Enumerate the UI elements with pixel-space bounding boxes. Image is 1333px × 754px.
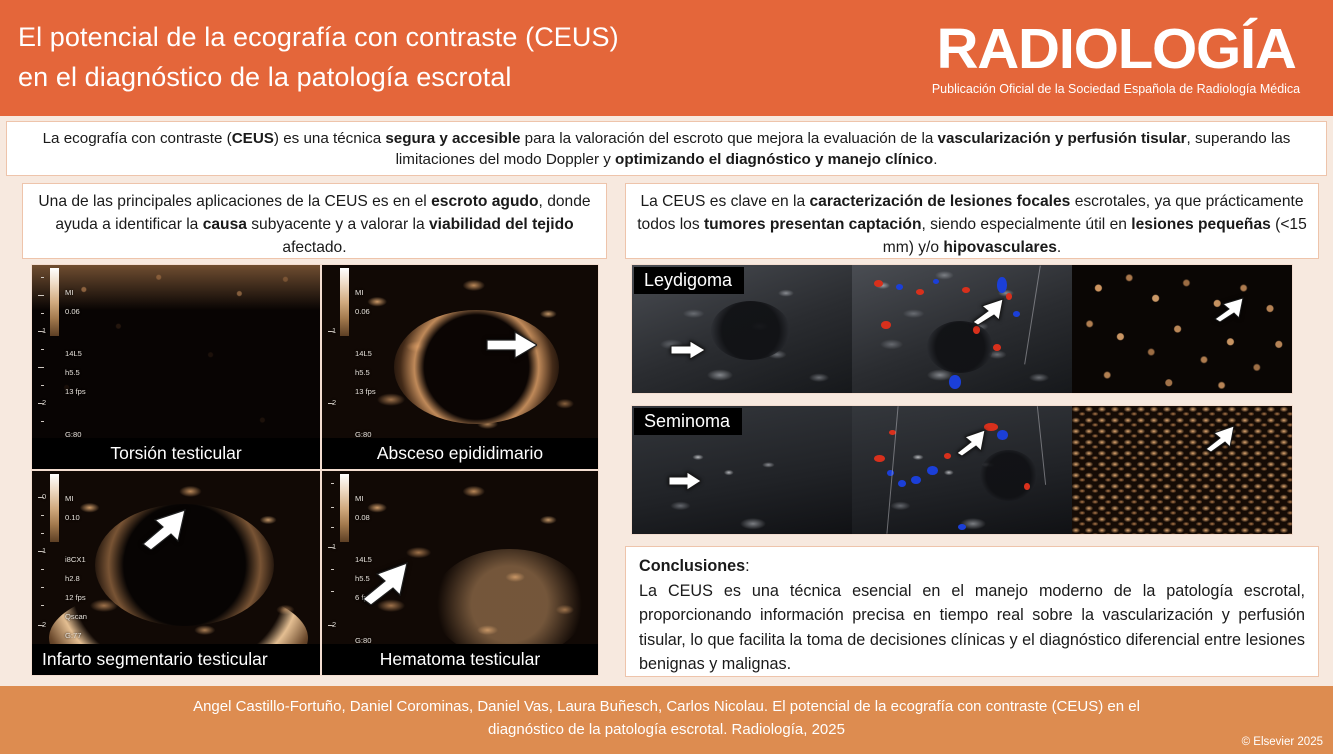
ceus-pane-leydigoma: [1072, 265, 1292, 393]
param-mi-value: 0.08: [355, 513, 377, 522]
left-intro-text-1: Una de las principales aplicaciones de l…: [38, 193, 431, 210]
conclusions-heading: Conclusiones: [639, 557, 745, 575]
graphical-abstract-poster: El potencial de la ecografía con contras…: [0, 0, 1333, 754]
poster-header: El potencial de la ecografía con contras…: [0, 0, 1333, 116]
ceus-image-leydigoma: [1072, 265, 1292, 393]
copyright: © Elsevier 2025: [1242, 735, 1323, 749]
pointer-arrow-icon: [361, 561, 409, 605]
depth-scale: 1 2: [324, 475, 340, 671]
param-harmonic: h5.5: [355, 368, 377, 377]
banner-bold-4: optimizando el diagnóstico y manejo clín…: [615, 151, 933, 168]
left-intro-text-3: subyacente y a valorar la: [247, 216, 429, 233]
right-intro-bold-1: caracterización de lesiones focales: [809, 193, 1070, 210]
right-intro-bold-3: lesiones pequeñas: [1131, 216, 1271, 233]
param-framerate: 13 fps: [65, 387, 87, 396]
conclusions-body: La CEUS es una técnica esencial en el ma…: [639, 579, 1305, 677]
pointer-arrow-icon: [667, 470, 701, 492]
tumor-row-seminoma[interactable]: Seminoma: [631, 405, 1293, 535]
grayscale-bar-icon: [50, 268, 59, 336]
color-doppler-overlay: [852, 265, 1072, 393]
pointer-arrow-icon: [955, 428, 987, 456]
conclusions-heading-colon: :: [745, 557, 750, 575]
doppler-pane-seminoma: [852, 406, 1072, 534]
banner-text-1: La ecografía con contraste (: [43, 130, 232, 147]
param-harmonic: h5.5: [65, 368, 87, 377]
conclusions-heading-row: Conclusiones:: [639, 554, 1305, 579]
ultrasound-panel-abscess[interactable]: 1 2 MI 0.06 14L5 h5.5 13 fps G:80 DR:60: [321, 264, 599, 470]
journal-name: RADIOLOGÍA: [936, 19, 1295, 79]
pointer-arrow-icon: [485, 330, 537, 360]
param-probe: 14L5: [355, 349, 377, 358]
doppler-pane-leydigoma: [852, 265, 1072, 393]
poster-footer: Angel Castillo-Fortuño, Daniel Corominas…: [0, 686, 1333, 754]
left-intro-bold-2: causa: [203, 216, 247, 233]
right-intro-text-1: La CEUS es clave en la: [640, 193, 809, 210]
ultrasound-panel-torsion[interactable]: 1 2 MI 0.06 14L5 h5.5 13 fps G:80: [31, 264, 321, 470]
grayscale-bar-icon: [340, 474, 349, 542]
param-gain: G:77: [65, 631, 87, 640]
focal-lesion-image-stack: Leydigoma: [631, 264, 1293, 535]
acute-scrotum-image-grid: 1 2 MI 0.06 14L5 h5.5 13 fps G:80: [31, 264, 599, 676]
ceus-image-seminoma: [1072, 406, 1292, 534]
param-mi-value: 0.06: [355, 307, 377, 316]
param-probe: 14L5: [65, 349, 87, 358]
banner-text-2: ) es una técnica: [274, 130, 385, 147]
param-mi-label: MI: [65, 288, 87, 297]
depth-scale: 0 1 2: [34, 475, 50, 671]
param-framerate: 12 fps: [65, 593, 87, 602]
left-intro-bold-3: viabilidad del tejido: [429, 216, 574, 233]
tumor-row-leydigoma[interactable]: Leydigoma: [631, 264, 1293, 394]
param-mi-label: MI: [65, 494, 87, 503]
right-intro-box: La CEUS es clave en la caracterización d…: [625, 183, 1319, 259]
banner-text-3: para la valoración del escroto que mejor…: [520, 130, 937, 147]
param-harmonic: h2.8: [65, 574, 87, 583]
panel-caption-hematoma: Hematoma testicular: [322, 644, 598, 675]
panel-caption-abscess: Absceso epididimario: [322, 438, 598, 469]
grayscale-bar-icon: [340, 268, 349, 336]
pointer-arrow-icon: [971, 297, 1005, 325]
depth-scale: 1 2: [324, 269, 340, 465]
ultrasound-panel-hematoma[interactable]: 1 2 MI 0.08 14L5 h5.5 6 fps G:80 DR:60: [321, 470, 599, 676]
abscess-lesion: [394, 310, 560, 424]
param-mi-value: 0.06: [65, 307, 87, 316]
panel-caption-infarct: Infarto segmentario testicular: [32, 644, 320, 675]
left-intro-bold-1: escroto agudo: [431, 193, 538, 210]
param-mi-value: 0.10: [65, 513, 87, 522]
right-intro-bold-2: tumores presentan captación: [704, 216, 922, 233]
hematoma-region: [432, 549, 587, 659]
tumor-label-seminoma: Seminoma: [634, 408, 742, 435]
pointer-arrow-icon: [1204, 424, 1236, 452]
left-intro-box: Una de las principales aplicaciones de l…: [22, 183, 607, 259]
panel-caption-torsion: Torsión testicular: [32, 438, 320, 469]
banner-bold-1: CEUS: [232, 130, 274, 147]
ultrasound-panel-infarct[interactable]: 0 1 2 MI 0.10 i8CX1 h2.8 12 fps Qscan: [31, 470, 321, 676]
right-intro-text-5: .: [1057, 239, 1061, 256]
param-framerate: 13 fps: [355, 387, 377, 396]
grayscale-bar-icon: [50, 474, 59, 542]
banner-text-5: .: [933, 151, 937, 168]
param-mode: Qscan: [65, 612, 87, 621]
param-mi-label: MI: [355, 494, 377, 503]
banner-bold-3: vascularización y perfusión tisular: [938, 130, 1187, 147]
journal-brand: RADIOLOGÍA Publicación Oficial de la Soc…: [913, 0, 1333, 116]
left-intro-text-4: afectado.: [282, 239, 346, 256]
summary-banner: La ecografía con contraste (CEUS) es una…: [6, 121, 1327, 176]
pointer-arrow-icon: [1213, 296, 1245, 322]
citation: Angel Castillo-Fortuño, Daniel Corominas…: [0, 695, 1333, 741]
journal-subtitle: Publicación Oficial de la Sociedad Españ…: [932, 81, 1300, 97]
pointer-arrow-icon: [669, 339, 705, 361]
pointer-arrow-icon: [141, 508, 187, 550]
param-probe: i8CX1: [65, 555, 87, 564]
right-intro-bold-4: hipovasculares: [943, 239, 1057, 256]
hypoechoic-nodule: [711, 301, 790, 360]
tumor-label-leydigoma: Leydigoma: [634, 267, 744, 294]
color-doppler-overlay: [852, 406, 1072, 534]
right-intro-text-3: , siendo especialmente útil en: [921, 216, 1131, 233]
banner-bold-2: segura y accesible: [385, 130, 520, 147]
ceus-pane-seminoma: [1072, 406, 1292, 534]
depth-scale: 1 2: [34, 269, 50, 465]
conclusions-box: Conclusiones: La CEUS es una técnica ese…: [625, 546, 1319, 677]
param-mi-label: MI: [355, 288, 377, 297]
page-title: El potencial de la ecografía con contras…: [0, 0, 913, 116]
